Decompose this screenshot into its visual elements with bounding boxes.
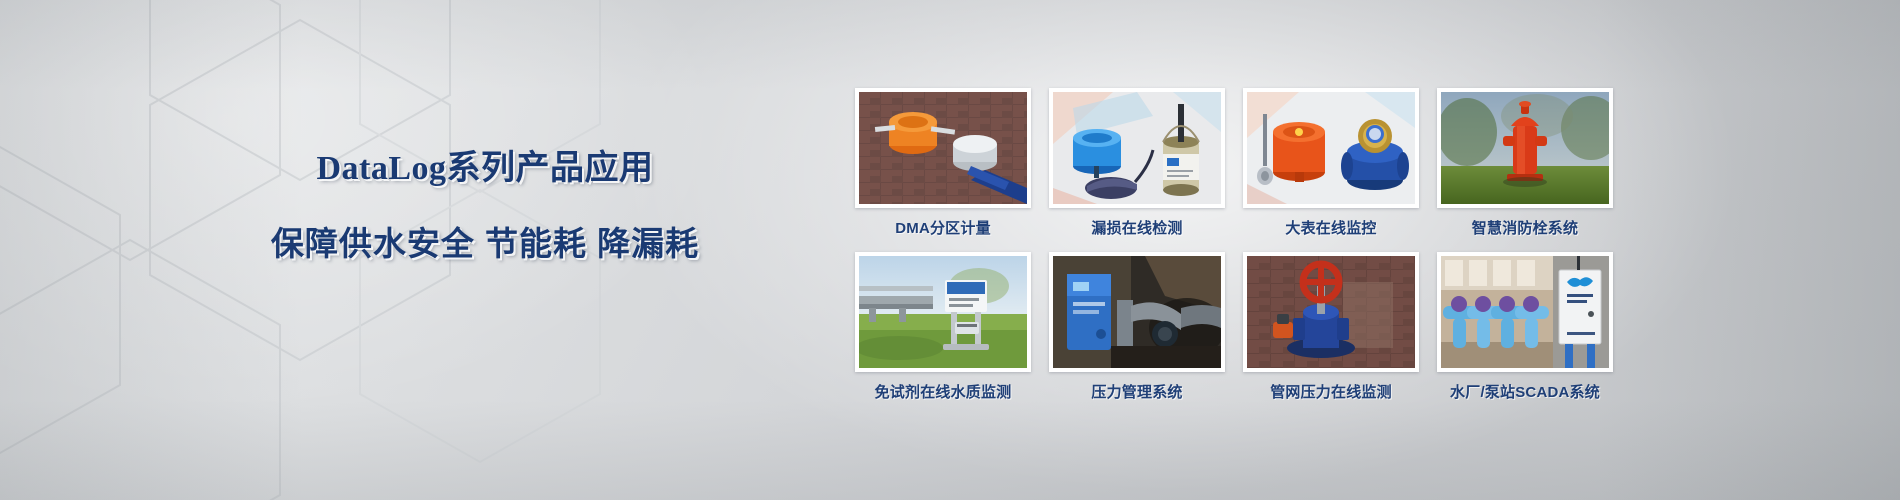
product-thumbnail[interactable] [1437,88,1613,208]
dma-metering-icon [859,92,1027,204]
headline-primary: DataLog系列产品应用 [250,140,720,189]
product-thumbnail[interactable] [855,88,1031,208]
product-thumbnail[interactable] [1243,88,1419,208]
water-quality-icon [859,256,1027,368]
headline-block: DataLog系列产品应用 保障供水安全 节能耗 降漏耗 [250,140,720,265]
product-card[interactable]: 压力管理系统 [1049,252,1225,402]
product-label: 压力管理系统 [1049,381,1225,402]
product-card[interactable]: 漏损在线检测 [1049,88,1225,238]
pipe-pressure-icon [1247,256,1415,368]
product-thumbnail[interactable] [1437,252,1613,372]
product-thumbnail[interactable] [1049,88,1225,208]
leak-detection-icon [1053,92,1221,204]
smart-hydrant-icon [1441,92,1609,204]
product-label: DMA分区计量 [855,217,1031,238]
product-card[interactable]: 免试剂在线水质监测 [855,252,1031,402]
product-label: 管网压力在线监测 [1243,381,1419,402]
product-label: 水厂/泵站SCADA系统 [1437,381,1613,402]
product-grid: DMA分区计量 [855,88,1613,402]
product-application-banner: DataLog系列产品应用 保障供水安全 节能耗 降漏耗 [0,0,1900,500]
product-card[interactable]: 管网压力在线监测 [1243,252,1419,402]
headline-secondary: 保障供水安全 节能耗 降漏耗 [250,217,720,265]
product-card[interactable]: DMA分区计量 [855,88,1031,238]
pressure-management-icon [1053,256,1221,368]
product-thumbnail[interactable] [1243,252,1419,372]
product-card[interactable]: 智慧消防栓系统 [1437,88,1613,238]
product-label: 大表在线监控 [1243,217,1419,238]
product-thumbnail[interactable] [1049,252,1225,372]
product-label: 智慧消防栓系统 [1437,217,1613,238]
scada-icon [1441,256,1609,368]
product-label: 漏损在线检测 [1049,217,1225,238]
product-card[interactable]: 大表在线监控 [1243,88,1419,238]
product-label: 免试剂在线水质监测 [855,381,1031,402]
product-thumbnail[interactable] [855,252,1031,372]
product-card[interactable]: 水厂/泵站SCADA系统 [1437,252,1613,402]
large-meter-icon [1247,92,1415,204]
